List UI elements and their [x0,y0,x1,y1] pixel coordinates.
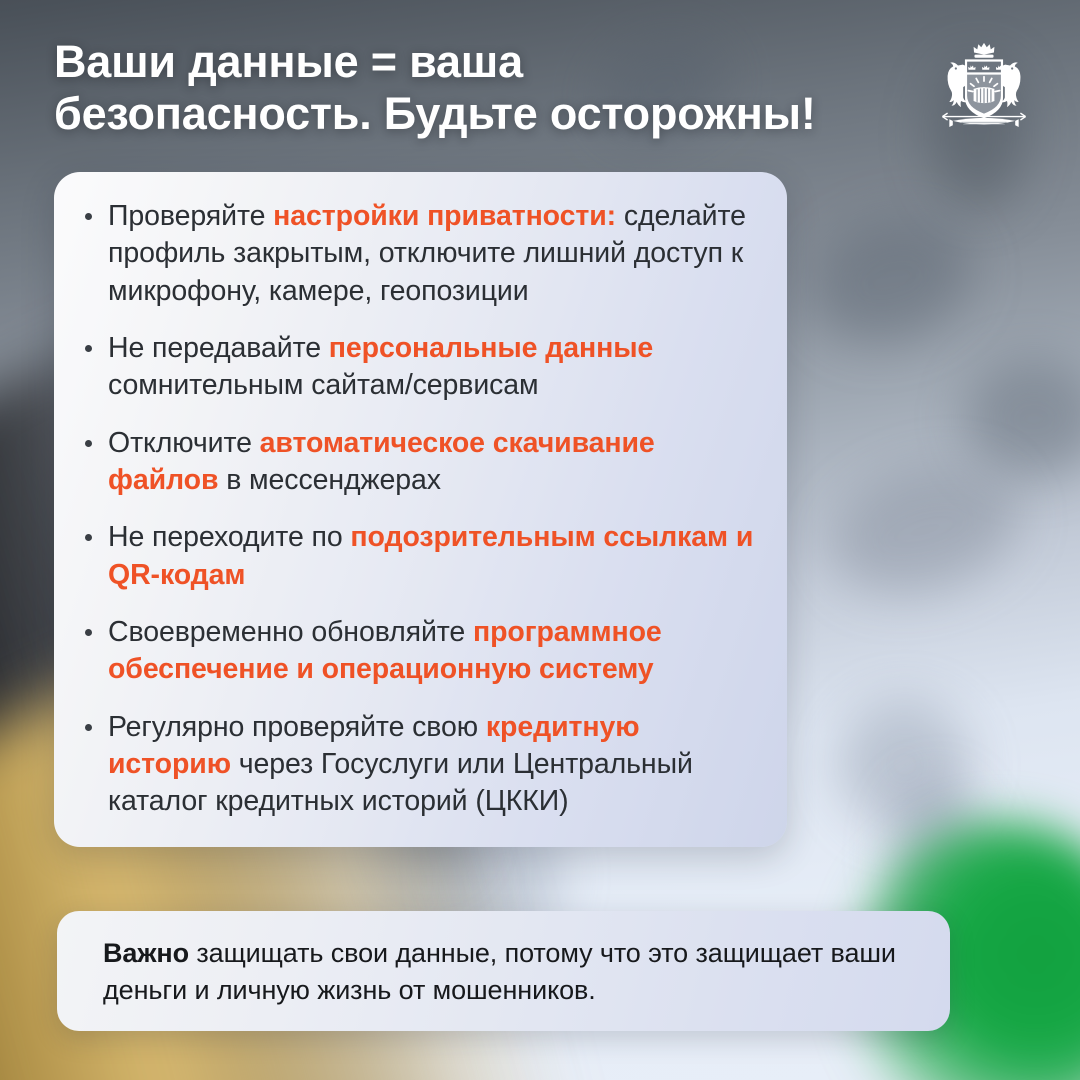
tips-list: Проверяйте настройки приватности: сделай… [76,198,759,821]
tip-text: Не переходите по [108,521,350,553]
tip-highlight-text: настройки приватности: [273,200,616,232]
tip-text: Не передавайте [108,332,329,364]
important-note-card: Важно защищать свои данные, потому что э… [57,911,950,1031]
tip-text: Проверяйте [108,200,273,232]
tip-item: Своевременно обновляйте программное обес… [76,614,759,689]
page-title: Ваши данные = ваша безопасность. Будьте … [54,36,844,140]
tips-card: Проверяйте настройки приватности: сделай… [54,172,787,847]
tip-text: Отключите [108,427,260,459]
bullet-dot-icon [85,724,92,731]
tip-item: Регулярно проверяйте свою кредитную исто… [76,709,759,821]
important-note-text: Важно защищать свои данные, потому что э… [103,935,916,1010]
poster-root: Ваши данные = ваша безопасность. Будьте … [0,0,1080,1080]
tip-item: Отключите автоматическое скачивание файл… [76,425,759,500]
tip-highlight-text: персональные данные [329,332,653,364]
bullet-dot-icon [85,213,92,220]
tip-item: Не передавайте персональные данные сомни… [76,330,759,405]
bullet-dot-icon [85,440,92,447]
tip-text: Своевременно обновляйте [108,616,473,648]
tip-item: Не переходите по подозрительным ссылкам … [76,519,759,594]
bullet-dot-icon [85,629,92,636]
note-emphasis-text: Важно [103,938,189,968]
tip-text: сомнительным сайтам/сервисам [108,369,539,401]
note-body-text: защищать свои данные, потому что это защ… [103,938,896,1005]
bullet-dot-icon [85,534,92,541]
tip-item: Проверяйте настройки приватности: сделай… [76,198,759,310]
tip-text: Регулярно проверяйте свою [108,711,486,743]
bullet-dot-icon [85,345,92,352]
coat-of-arms-icon [932,36,1036,140]
tip-text: в мессенджерах [218,464,441,496]
